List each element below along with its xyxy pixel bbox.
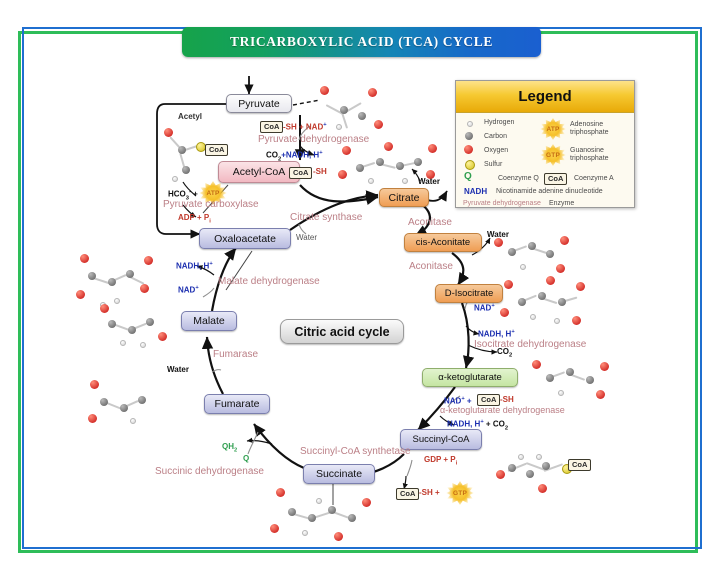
coa-tag-pyruvate-dh: CoA — [260, 121, 283, 133]
legend-label-atp-line1: Adenosine — [570, 121, 603, 128]
node-oxaloacetate-label: Oxaloacetate — [214, 233, 276, 245]
legend-label-enzyme: Enzyme — [549, 200, 574, 207]
label-nadh-h-malate: NADH, H+ — [176, 261, 213, 271]
coenzyme-q-icon: Q — [464, 171, 472, 182]
legend-label-nadh: Nicotinamide adenine dinucleotide — [496, 188, 603, 195]
enzyme-citrate-synthase: Citrate synthase — [290, 213, 362, 224]
atp-icon: ATP — [540, 118, 566, 140]
label-nad-malate: NAD+ — [178, 285, 199, 295]
legend-label-gtp-line1: Guanosine — [570, 147, 604, 154]
molecule-fumarate — [86, 378, 166, 434]
enzyme-aconitase-1: Aconitase — [408, 218, 452, 229]
node-d-isocitrate-label: D-Isocitrate — [445, 288, 494, 299]
enzyme-malate-dehydrogenase: Malate dehydrogenase — [218, 277, 320, 288]
legend-label-sulfur: Sulfur — [484, 161, 502, 168]
legend-label-oxygen: Oxygen — [484, 147, 508, 154]
coa-tag-acetyl-group: CoA — [205, 144, 228, 156]
legend-label-atp-line2: triphosphate — [570, 129, 609, 136]
center-label-citric-acid-cycle: Citric acid cycle — [280, 319, 404, 344]
enzyme-isocitrate-dehydrogenase: Isocitrate dehydrogenase — [474, 340, 586, 351]
diagram-canvas: TRICARBOXYLIC ACID (TCA) CYCLE — [0, 0, 720, 571]
node-d-isocitrate[interactable]: D-Isocitrate — [435, 284, 503, 303]
molecule-isocitrate — [500, 274, 604, 340]
label-acetyl: Acetyl — [178, 113, 202, 121]
node-citrate-label: Citrate — [389, 192, 420, 204]
node-alpha-ketoglutarate[interactable]: α-ketoglutarate — [422, 368, 518, 387]
oxygen-icon — [464, 145, 473, 154]
label-co2-isocitrate: CO2 — [497, 348, 512, 359]
coa-tag-succinyl: CoA — [568, 459, 591, 471]
enzyme-succinyl-coa-synthetase: Succinyl-CoA synthetase — [300, 447, 411, 458]
label-water-fumarase: Water — [167, 366, 189, 374]
enzyme-succinic-dehydrogenase: Succinic dehydrogenase — [155, 467, 264, 478]
label-coa-sh-1: -SH — [313, 168, 327, 176]
label-gdp-pi: GDP + Pi — [424, 456, 457, 467]
node-acetyl-coa-label: Acetyl-CoA — [233, 166, 286, 178]
enzyme-alpha-kg-dehydrogenase: α-ketoglutarate dehydrogenase — [440, 406, 565, 415]
legend-label-carbon: Carbon — [484, 133, 507, 140]
enzyme-fumarase: Fumarase — [213, 350, 258, 361]
title-banner: TRICARBOXYLIC ACID (TCA) CYCLE — [182, 27, 541, 57]
label-coa-sh-nad: -SH + NAD+ — [283, 122, 327, 132]
sulfur-icon — [465, 160, 475, 170]
node-oxaloacetate[interactable]: Oxaloacetate — [199, 228, 291, 249]
coa-tag-gtp: CoA — [396, 488, 419, 500]
enzyme-pyruvate-carboxylase: Pyruvate carboxylase — [163, 200, 259, 211]
coa-tag-akg: CoA — [477, 394, 500, 406]
node-cis-aconitate[interactable]: cis-Aconitate — [404, 233, 482, 252]
node-succinyl-coa-label: Succinyl-CoA — [412, 434, 469, 445]
coa-tag-acetyl: CoA — [289, 167, 312, 179]
page-title: TRICARBOXYLIC ACID (TCA) CYCLE — [230, 34, 493, 50]
label-coa-sh-akg: -SH — [500, 396, 514, 404]
hydrogen-icon — [467, 121, 473, 127]
node-fumarate[interactable]: Fumarate — [204, 394, 270, 414]
label-co2-nadh-h: CO2+NADH, H+ — [266, 150, 323, 162]
legend-panel: Legend Hydrogen Carbon Oxygen Sulfur Q C… — [455, 80, 635, 208]
node-malate-label: Malate — [193, 315, 225, 327]
label-adp-pi: ADP + Pi — [178, 214, 211, 225]
legend-label-coa: Coenzyme A — [574, 175, 614, 182]
node-pyruvate-label: Pyruvate — [238, 98, 279, 110]
label-q: Q — [243, 455, 249, 463]
gtp-burst: GTP — [446, 481, 474, 505]
carbon-icon — [465, 132, 473, 140]
node-cis-aconitate-label: cis-Aconitate — [416, 237, 470, 248]
label-coa-sh-gtp: -SH + — [419, 489, 440, 497]
label-nadh-h-co2-akg: NADH, H+ + CO2 — [447, 419, 508, 431]
enzyme-aconitase-2: Aconitase — [409, 262, 453, 273]
molecule-alpha-ketoglutarate — [530, 352, 624, 410]
node-fumarate-label: Fumarate — [215, 398, 260, 410]
label-water-aconitase-2: Water — [487, 231, 509, 239]
legend-title: Legend — [518, 88, 571, 105]
node-citrate[interactable]: Citrate — [379, 188, 429, 207]
node-succinate[interactable]: Succinate — [303, 464, 375, 484]
node-pyruvate[interactable]: Pyruvate — [226, 94, 292, 113]
nadh-icon: NADH — [464, 187, 487, 196]
label-water-citrate-synthase: Water — [296, 234, 317, 242]
label-water-aconitase-1: Water — [418, 178, 440, 186]
legend-label-gtp-line2: triphosphate — [570, 155, 609, 162]
center-label-text: Citric acid cycle — [294, 325, 389, 339]
enzyme-pyruvate-dehydrogenase: Pyruvate dehydrogenase — [258, 135, 369, 146]
molecule-malate — [96, 300, 176, 360]
node-malate[interactable]: Malate — [181, 311, 237, 331]
node-alpha-ketoglutarate-label: α-ketoglutarate — [438, 372, 502, 383]
node-acetyl-coa[interactable]: Acetyl-CoA — [218, 161, 300, 183]
legend-label-coenzyme-q: Coenzyme Q — [498, 175, 539, 182]
molecule-succinate — [268, 486, 378, 548]
gtp-icon: GTP — [540, 144, 566, 166]
enzyme-sample-icon: Pyruvate dehydrogenase — [463, 200, 541, 207]
label-qh2: QH2 — [222, 443, 237, 454]
legend-header: Legend — [456, 81, 634, 113]
label-nadh-h-isocitrate: NADH, H+ — [478, 329, 515, 339]
legend-label-hydrogen: Hydrogen — [484, 119, 514, 126]
coa-icon: CoA — [544, 173, 567, 185]
label-nad-isocitrate: NAD+ — [474, 303, 495, 313]
node-succinyl-coa[interactable]: Succinyl-CoA — [400, 429, 482, 450]
node-succinate-label: Succinate — [316, 468, 362, 480]
